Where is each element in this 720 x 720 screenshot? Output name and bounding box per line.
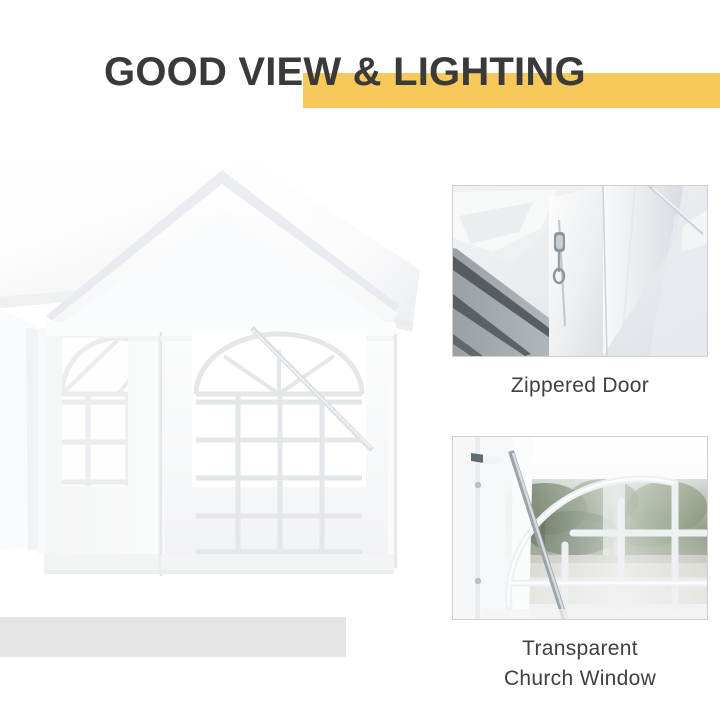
caption-line: Transparent [452,634,708,664]
feature-card-zippered-door: Zippered Door [452,185,708,401]
tent-illustration [0,150,430,670]
main-product-photo [0,150,430,670]
header: GOOD VIEW & LIGHTING [0,0,720,150]
feature-card-church-window: Transparent Church Window [452,436,708,694]
church-window-photo [453,437,707,619]
caption-line: Zippered Door [452,371,708,401]
church-window-thumbnail [452,436,708,620]
zippered-door-thumbnail [452,185,708,357]
feature-caption-1: Zippered Door [452,371,708,401]
floor-shadow-band [0,617,346,657]
zippered-door-photo [453,186,707,356]
feature-caption-2: Transparent Church Window [452,634,708,694]
page-title: GOOD VIEW & LIGHTING [104,49,586,95]
product-feature-image: GOOD VIEW & LIGHTING [0,0,720,720]
caption-line: Church Window [452,664,708,694]
